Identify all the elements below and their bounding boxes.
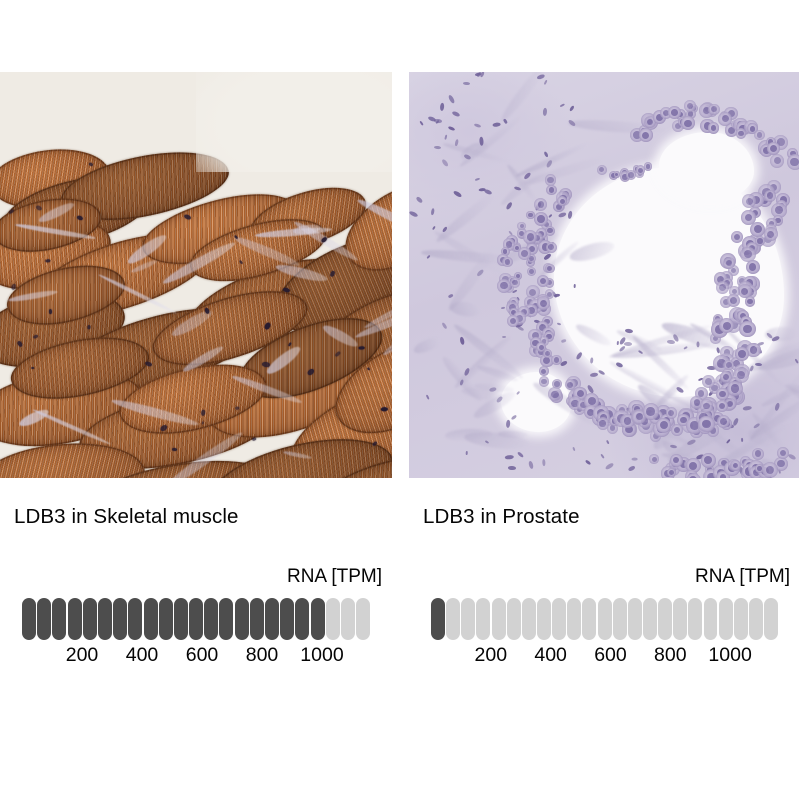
glandular-epithelial-cell xyxy=(548,387,562,401)
glandular-epithelial-cell xyxy=(708,104,720,116)
glandular-epithelial-cell xyxy=(537,275,549,287)
muscle-nucleus xyxy=(31,367,34,369)
stromal-nucleus xyxy=(479,136,484,145)
rna-bar-segment xyxy=(567,598,581,640)
glandular-epithelial-cell xyxy=(523,230,537,244)
rna-bar-segment xyxy=(613,598,627,640)
rna-tick-label: 1000 xyxy=(300,644,343,667)
stromal-nucleus xyxy=(697,341,700,347)
glandular-epithelial-cell xyxy=(716,400,728,412)
rna-tick-label: 200 xyxy=(475,644,508,667)
stromal-nucleus xyxy=(632,458,638,461)
empty-slide-area xyxy=(196,72,392,172)
rna-bar-segment xyxy=(461,598,475,640)
glandular-epithelial-cell xyxy=(643,403,659,419)
glandular-epithelial-cell xyxy=(698,416,715,433)
rna-bar-segment xyxy=(764,598,778,640)
glandular-epithelial-cell xyxy=(670,454,683,467)
glandular-epithelial-cell xyxy=(700,399,713,412)
glandular-epithelial-cell xyxy=(752,448,764,460)
rna-bar-segment xyxy=(265,598,279,640)
glandular-epithelial-cell xyxy=(497,279,511,293)
rna-tpm-label: RNA [TPM] xyxy=(695,566,790,588)
rna-gauge-prostate: RNA [TPM] 2004006008001000 xyxy=(409,566,800,676)
caption-skeletal-muscle: LDB3 in Skeletal muscle xyxy=(14,505,239,529)
glandular-epithelial-cell xyxy=(702,375,715,388)
rna-bar-segment xyxy=(356,598,370,640)
glandular-epithelial-cell xyxy=(727,294,740,307)
rna-bar-segment xyxy=(219,598,233,640)
glandular-epithelial-cell xyxy=(738,284,752,298)
rna-tick-label: 800 xyxy=(246,644,279,667)
muscle-nucleus xyxy=(359,345,365,349)
rna-bar-segment xyxy=(628,598,642,640)
rna-bar-segment xyxy=(446,598,460,640)
rna-tick-label: 400 xyxy=(534,644,567,667)
rna-axis-ticks: 2004006008001000 xyxy=(22,644,370,670)
rna-bar-segment xyxy=(507,598,521,640)
glandular-epithelial-cell xyxy=(614,171,620,177)
rna-bar-segment xyxy=(492,598,506,640)
glandular-epithelial-cell xyxy=(718,112,732,126)
micrograph-panel-prostate[interactable] xyxy=(409,72,799,478)
stromal-nucleus xyxy=(624,341,632,345)
rna-tick-label: 600 xyxy=(594,644,627,667)
glandular-epithelial-cell xyxy=(701,453,716,468)
tissue-expression-figure: LDB3 in Skeletal muscle LDB3 in Prostate… xyxy=(0,0,800,800)
rna-bar-segment xyxy=(174,598,188,640)
rna-bar-segment xyxy=(704,598,718,640)
rna-tick-label: 400 xyxy=(126,644,159,667)
rna-tick-label: 600 xyxy=(186,644,219,667)
glandular-epithelial-cell xyxy=(527,267,536,276)
rna-bar-segment xyxy=(128,598,142,640)
glandular-epithelial-cell xyxy=(727,381,742,396)
skeletal-muscle-image xyxy=(0,72,392,478)
rna-bar-segment xyxy=(68,598,82,640)
glandular-epithelial-cell xyxy=(510,277,520,287)
rna-bar-segment xyxy=(552,598,566,640)
rna-axis-ticks: 2004006008001000 xyxy=(431,644,778,670)
glandular-epithelial-cell xyxy=(546,242,557,253)
glandular-epithelial-cell xyxy=(526,211,535,220)
rna-bar-segment xyxy=(98,598,112,640)
glandular-epithelial-cell xyxy=(546,185,557,196)
rna-bar-segment xyxy=(658,598,672,640)
rna-bar-segment xyxy=(83,598,97,640)
glandular-epithelial-cell xyxy=(716,281,729,294)
glandular-epithelial-cell xyxy=(731,231,743,243)
glandular-epithelial-cell xyxy=(739,321,756,338)
rna-tick-label: 1000 xyxy=(708,644,751,667)
rna-bar-segment xyxy=(159,598,173,640)
rna-bar-segment xyxy=(719,598,733,640)
glandular-epithelial-cell xyxy=(597,165,607,175)
rna-bar-segment xyxy=(37,598,51,640)
rna-bar-segment xyxy=(311,598,325,640)
rna-bar-segment xyxy=(582,598,596,640)
glandular-epithelial-cell xyxy=(777,447,789,459)
glandular-epithelial-cell xyxy=(518,247,531,260)
rna-gauge-skeletal-muscle: RNA [TPM] 2004006008001000 xyxy=(0,566,392,676)
stromal-nucleus xyxy=(741,437,743,441)
micrograph-panel-skeletal-muscle[interactable] xyxy=(0,72,392,478)
glandular-epithelial-cell xyxy=(762,462,778,478)
rna-bar-segment xyxy=(688,598,702,640)
rna-bar-segment xyxy=(22,598,36,640)
rna-bar-segment xyxy=(189,598,203,640)
rna-bar-segment xyxy=(537,598,551,640)
glandular-epithelial-cell xyxy=(746,260,760,274)
glandular-epithelial-cell xyxy=(745,296,755,306)
rna-bar-segment xyxy=(673,598,687,640)
stromal-nucleus xyxy=(434,118,442,122)
rna-bar-segment xyxy=(204,598,218,640)
rna-bar-segment xyxy=(598,598,612,640)
prostate-image xyxy=(409,72,799,478)
glandular-epithelial-cell xyxy=(649,454,658,463)
glandular-epithelial-cell xyxy=(708,122,719,133)
rna-bar-segment xyxy=(734,598,748,640)
glandular-epithelial-cell xyxy=(545,264,555,274)
rna-expression-bar[interactable] xyxy=(431,598,778,640)
rna-bar-segment xyxy=(144,598,158,640)
stromal-nucleus xyxy=(508,466,516,470)
stromal-nucleus xyxy=(502,336,506,338)
stromal-nucleus xyxy=(542,459,546,466)
rna-expression-bar[interactable] xyxy=(22,598,370,640)
glandular-epithelial-cell xyxy=(767,142,781,156)
glandular-epithelial-cell xyxy=(723,257,735,269)
rna-bar-segment xyxy=(643,598,657,640)
glandular-epithelial-cell xyxy=(639,128,653,142)
caption-prostate: LDB3 in Prostate xyxy=(423,505,580,529)
muscle-nucleus xyxy=(45,258,51,262)
rna-bar-segment xyxy=(749,598,763,640)
rna-bar-segment xyxy=(522,598,536,640)
glandular-epithelial-cell xyxy=(539,366,549,376)
glandular-epithelial-cell xyxy=(787,154,799,170)
rna-bar-segment xyxy=(280,598,294,640)
rna-bar-segment xyxy=(113,598,127,640)
rna-bar-segment xyxy=(52,598,66,640)
rna-bar-segment xyxy=(431,598,445,640)
rna-bar-segment xyxy=(476,598,490,640)
rna-bar-segment xyxy=(341,598,355,640)
rna-bar-segment xyxy=(250,598,264,640)
rna-tpm-label: RNA [TPM] xyxy=(287,566,382,588)
glandular-epithelial-cell xyxy=(502,257,513,268)
rna-tick-label: 200 xyxy=(66,644,99,667)
rna-bar-segment xyxy=(326,598,340,640)
rna-bar-segment xyxy=(295,598,309,640)
rna-bar-segment xyxy=(235,598,249,640)
rna-tick-label: 800 xyxy=(654,644,687,667)
